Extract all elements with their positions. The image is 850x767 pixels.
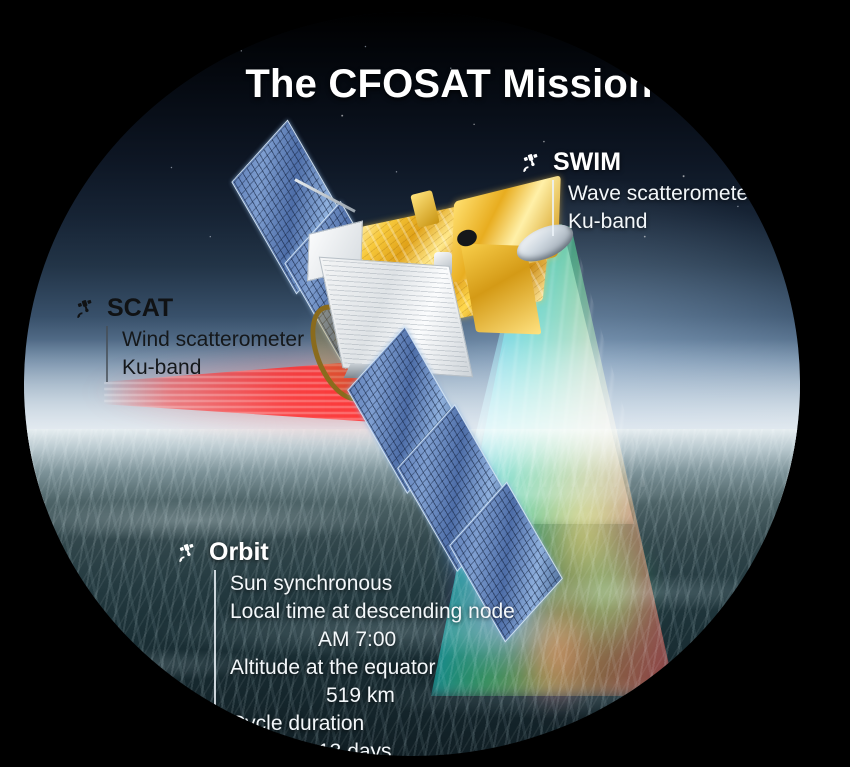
scat-callout-header: SCAT	[74, 296, 304, 321]
swim-callout-header: SWIM	[520, 150, 755, 175]
orbit-heading: Orbit	[209, 540, 269, 565]
swim-line-1: Wave scatterometer	[568, 180, 755, 208]
scat-heading: SCAT	[107, 296, 173, 321]
orbit-line-7: 13 days	[230, 738, 515, 756]
swim-callout: SWIM Wave scatterometer Ku-band	[520, 150, 755, 236]
swim-heading: SWIM	[553, 150, 621, 175]
orbit-line-4: Altitude at the equator	[230, 654, 515, 682]
scat-line-1: Wind scatterometer	[122, 326, 304, 354]
orbit-line-3: AM 7:00	[230, 626, 515, 654]
swim-callout-body: Wave scatterometer Ku-band	[552, 180, 755, 236]
orbit-line-2: Local time at descending node	[230, 598, 515, 626]
scat-callout-body: Wind scatterometer Ku-band	[106, 326, 304, 382]
scat-callout: SCAT Wind scatterometer Ku-band	[74, 296, 304, 382]
circular-image-frame: The CFOSAT Mission SWIM W	[24, 12, 800, 756]
orbit-callout-header: Orbit	[176, 540, 515, 565]
orbit-line-1: Sun synchronous	[230, 570, 515, 598]
orbit-line-6: Cycle duration	[230, 710, 515, 738]
cfosat-mission-infographic: The CFOSAT Mission SWIM W	[0, 0, 850, 767]
orbit-callout-body: Sun synchronous Local time at descending…	[214, 570, 515, 756]
orbit-line-5: 519 km	[230, 682, 515, 710]
swim-line-2: Ku-band	[568, 208, 755, 236]
satellite-icon	[176, 541, 200, 565]
orbit-callout: Orbit Sun synchronous Local time at desc…	[176, 540, 515, 756]
satellite-icon	[520, 151, 544, 175]
scat-line-2: Ku-band	[122, 354, 304, 382]
page-title: The CFOSAT Mission	[24, 62, 800, 107]
satellite-icon	[74, 297, 98, 321]
